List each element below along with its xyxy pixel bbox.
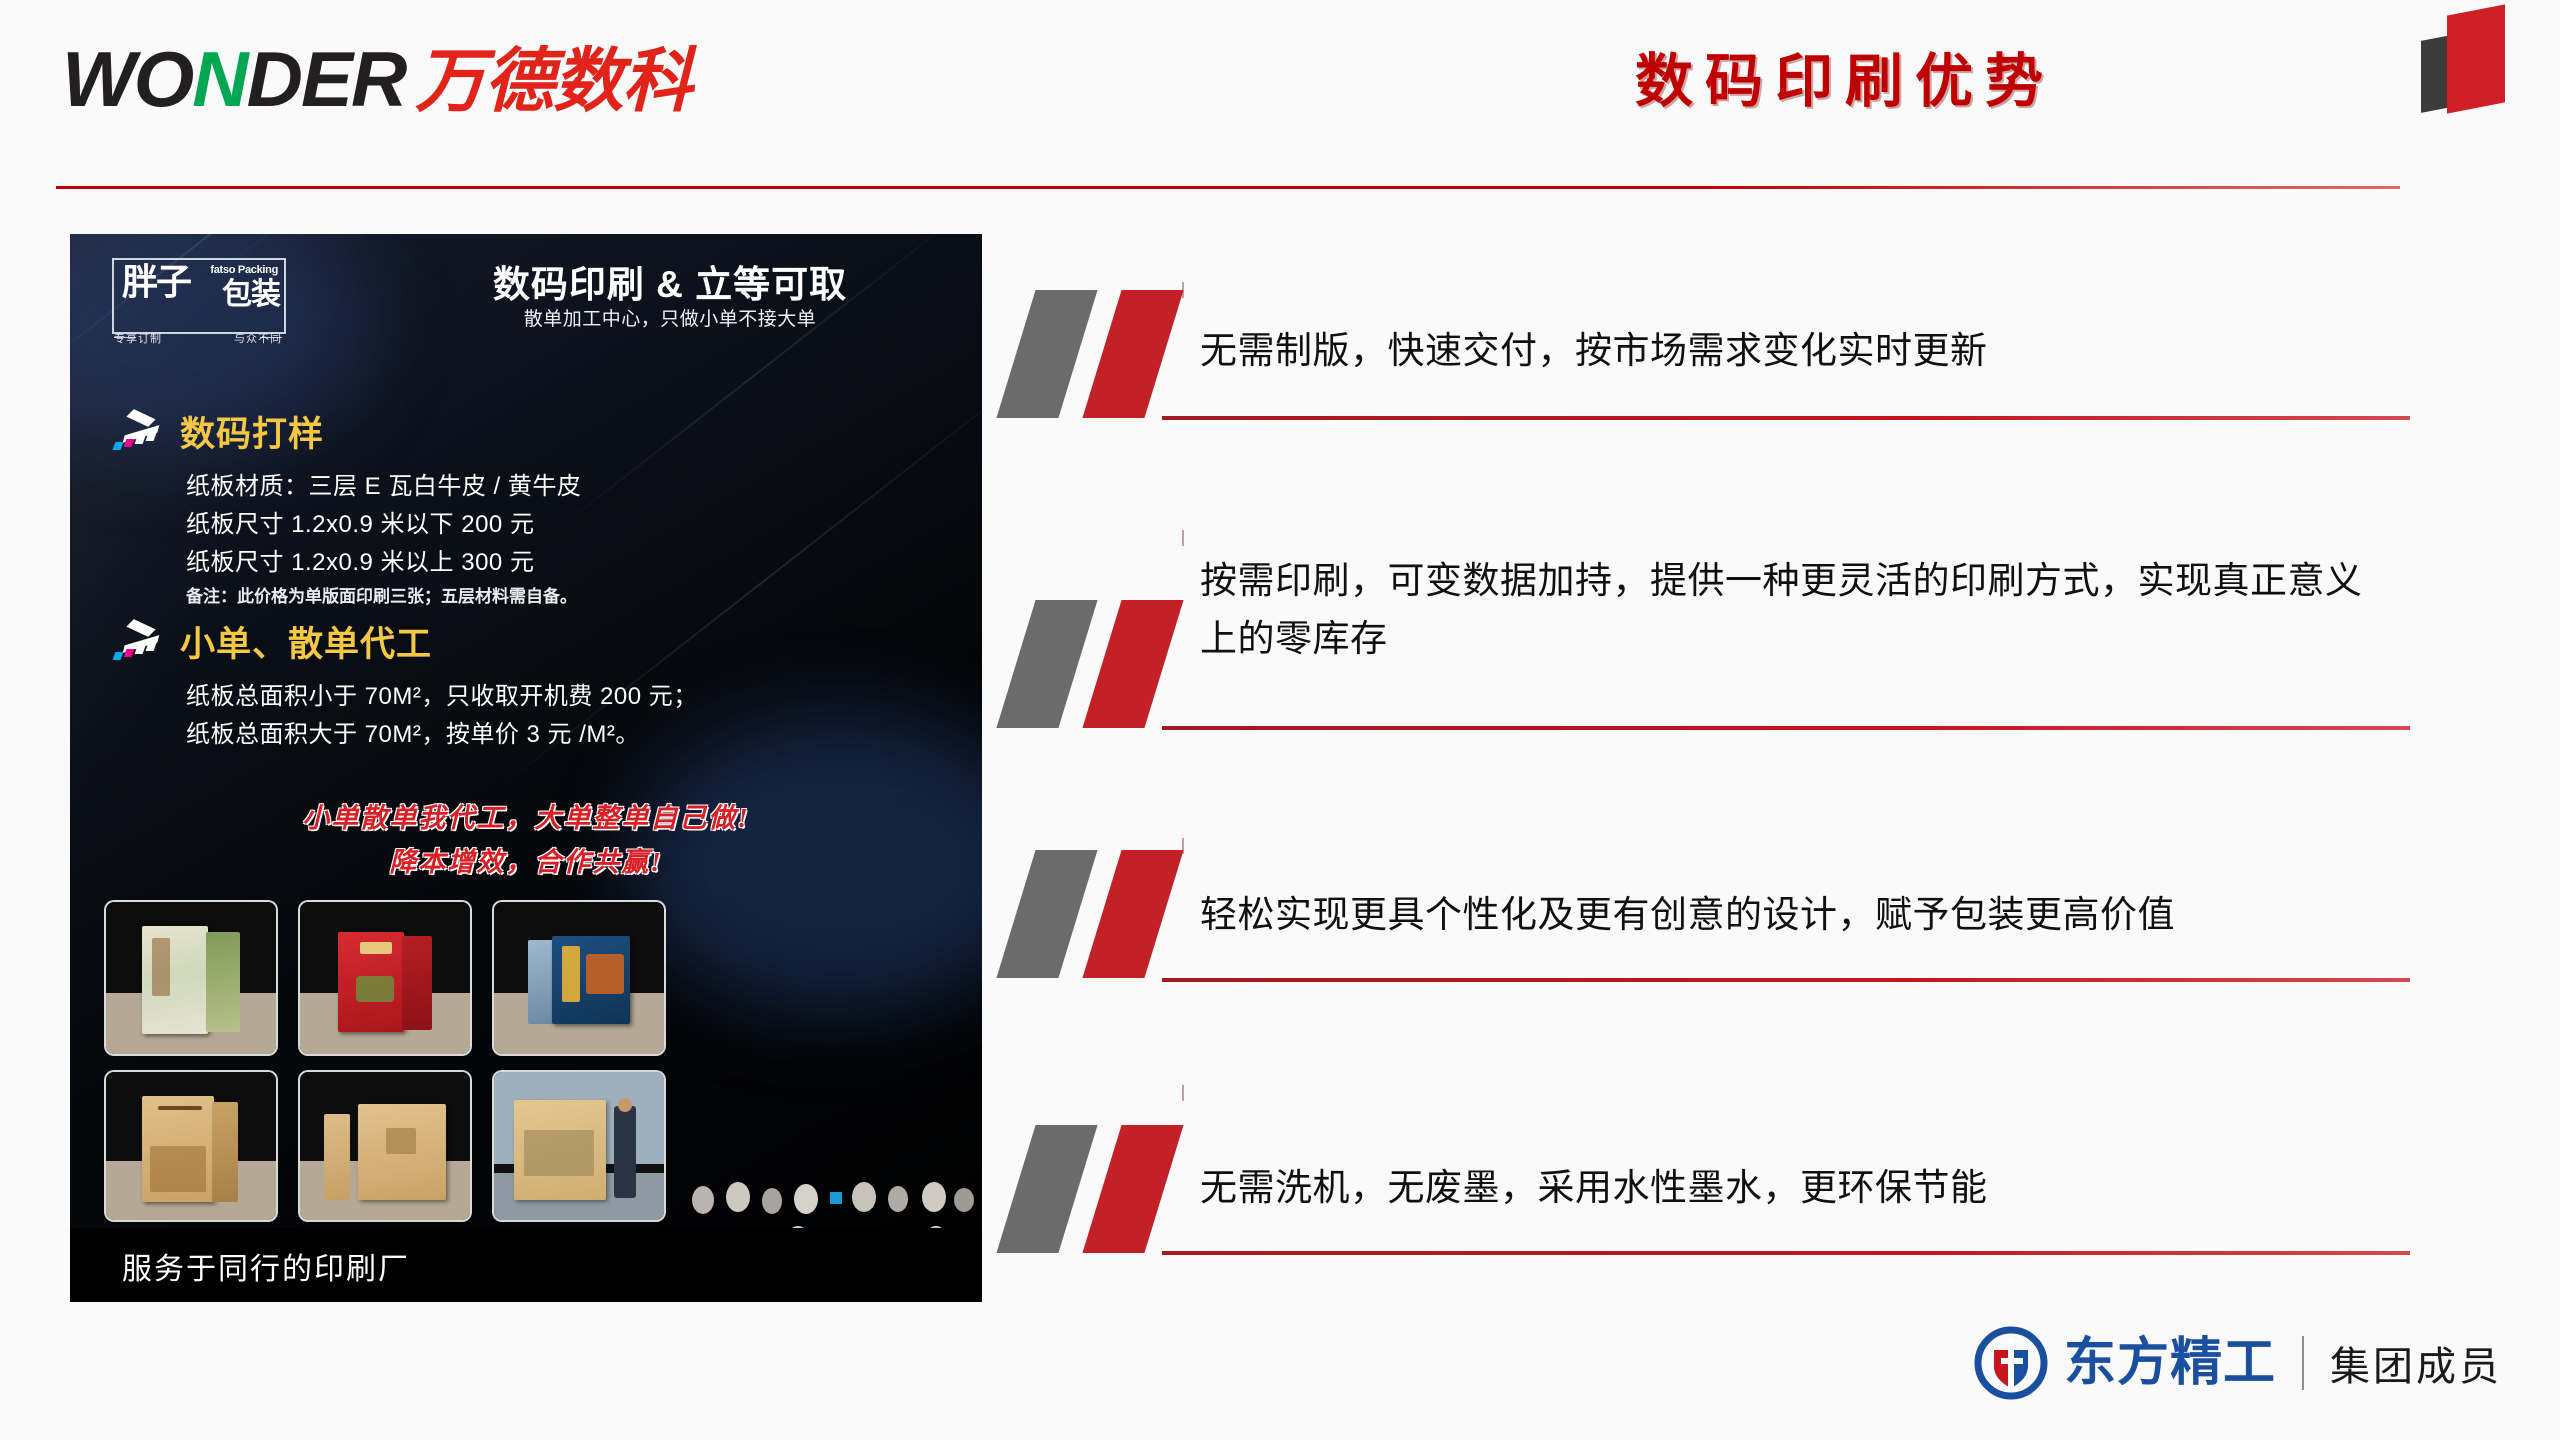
bullet-marker-icon [1010,600,1190,730]
fatso-brand-logo: 胖子 fatso Packing 包装 [112,258,286,334]
page-title: 数码印刷优势 [1635,34,2055,118]
advantage-underline-4 [1162,1251,2410,1255]
product-photo [494,902,664,1054]
wonder-logo: WO N DER 万德数科 [62,40,691,118]
fatso-logo-en: fatso Packing [210,264,278,276]
tagline-left: 专享订制 [114,330,162,346]
product-photo [106,1072,276,1220]
promotional-poster-image: 胖子 fatso Packing 包装 专享订制 与众不同 数码印刷 & 立等可… [70,234,982,1302]
advantage-text-2: 按需印刷，可变数据加持，提供一种更灵活的印刷方式，实现真正意义上的零库存 [1200,552,2390,668]
advantage-text-3: 轻松实现更具个性化及更有创意的设计，赋予包装更高价值 [1200,886,2430,944]
poster-slogan-2: 降本增效，合作共赢! [70,840,982,879]
poster-headline: 数码印刷 & 立等可取 [400,254,940,308]
footer-member-label: 集团成员 [2330,1334,2502,1392]
bullet-marker-icon [1010,1125,1190,1255]
header-divider [56,186,2400,189]
advantage-underline-1 [1162,416,2410,420]
corner-red-panel [2447,4,2505,113]
fatso-taglines: 专享订制 与众不同 [114,330,282,346]
poster-footer-band: 服务于同行的印刷厂 [70,1228,982,1302]
logo-word-wo: WO [62,40,192,118]
poster-section2-line1: 纸板总面积小于 70M²，只收取开机费 200 元； [186,676,698,711]
footer-divider [2302,1336,2304,1390]
company-footer-logo: 东方精工 集团成员 [1972,1324,2502,1402]
logo-chinese-name: 万德数科 [415,44,691,118]
dongfang-emblem-icon [1972,1324,2050,1402]
poster-section-title-1: 数码打样 [180,406,324,457]
poster-section1-note: 备注：此价格为单版面印刷三张；五层材料需自备。 [186,582,577,607]
bullet-marker-icon [1010,850,1190,980]
arrow-bullet-icon [112,412,166,456]
tagline-right: 与众不同 [234,330,282,346]
bullet-marker-icon [1010,290,1190,420]
slide-header: WO N DER 万德数科 数码印刷优势 [0,0,2560,190]
poster-section1-line3: 纸板尺寸 1.2x0.9 米以上 300 元 [186,542,534,577]
poster-subtitle: 散单加工中心，只做小单不接大单 [400,304,940,331]
tick-mark [1182,530,1184,546]
poster-footer-text: 服务于同行的印刷厂 [122,1244,410,1288]
arrow-bullet-icon [112,622,166,666]
product-photo [106,902,276,1054]
footer-brand-name: 东方精工 [2064,1337,2276,1389]
product-photo [300,1072,470,1220]
corner-ribbon-decoration [2415,10,2525,110]
poster-section-title-2: 小单、散单代工 [180,616,432,667]
logo-word-n-green: N [192,40,246,118]
advantage-underline-3 [1162,978,2410,982]
logo-word-der: DER [247,40,406,118]
advantage-underline-2 [1162,726,2410,730]
poster-section2-line2: 纸板总面积大于 70M²，按单价 3 元 /M²。 [186,714,640,749]
fatso-logo-cn2: 包装 [222,280,280,310]
advantage-text-1: 无需制版，快速交付，按市场需求变化实时更新 [1200,322,2400,380]
advantage-text-4: 无需洗机，无废墨，采用水性墨水，更环保节能 [1200,1159,2400,1217]
poster-slogan-1: 小单散单我代工，大单整单自己做! [70,796,982,835]
poster-section1-line1: 纸板材质：三层 E 瓦白牛皮 / 黄牛皮 [186,466,581,501]
fatso-logo-cn: 胖子 [122,264,190,300]
poster-section1-line2: 纸板尺寸 1.2x0.9 米以下 200 元 [186,504,534,539]
product-photo [494,1072,664,1220]
product-photo [300,902,470,1054]
tick-mark [1182,1085,1184,1101]
